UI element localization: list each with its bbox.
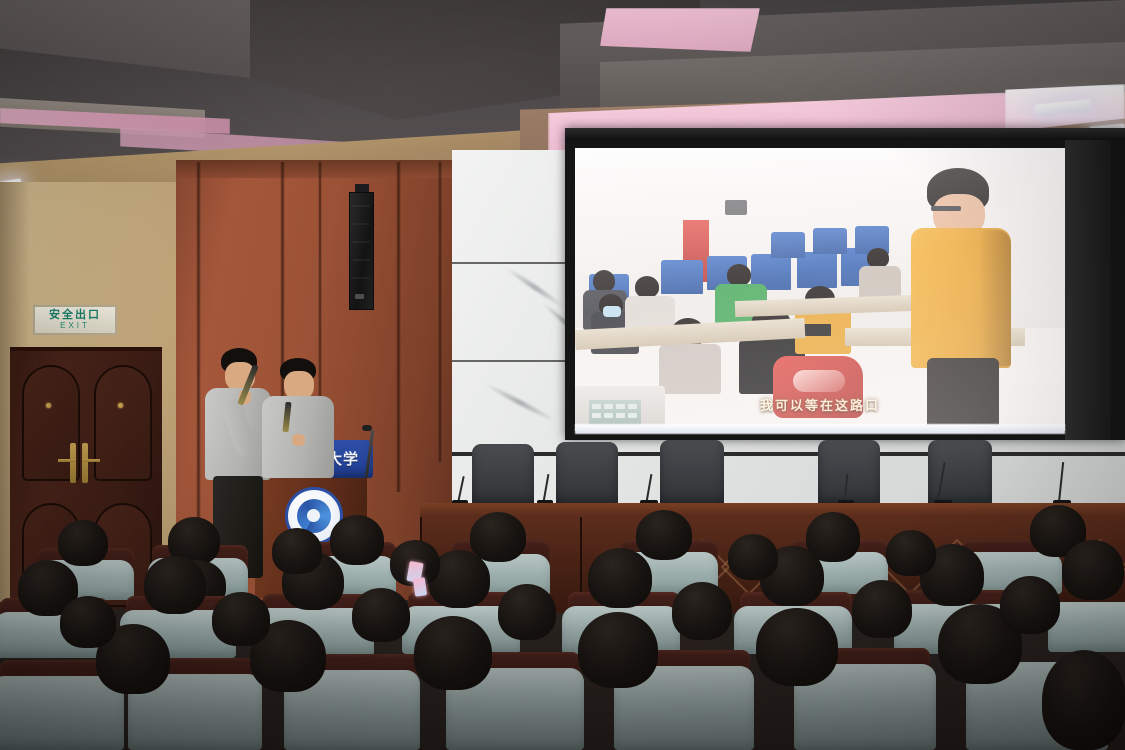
video-presenter-coat-shading [979, 230, 1011, 366]
audience-head [60, 596, 116, 648]
audience-head [636, 510, 692, 560]
audience-head [498, 584, 556, 640]
presenter-right-hand [292, 434, 305, 446]
video-blue-chair [813, 228, 847, 254]
video-speaker-icon [725, 200, 747, 215]
projection-screen-bottom-glow [575, 424, 1065, 434]
video-blue-chair [771, 232, 805, 258]
exit-sign-label-cn: 安全出口 [49, 310, 101, 321]
audience-head [588, 548, 652, 608]
video-audience-head [727, 264, 751, 286]
audience-head [330, 515, 384, 565]
door-stud-left [46, 403, 51, 408]
presenter-right [262, 358, 334, 478]
video-presenter-glasses-icon [931, 206, 961, 211]
audience-head [144, 556, 206, 614]
auditorium-scene: 安全出口 EXIT [0, 0, 1125, 750]
audience-head [470, 512, 526, 562]
projection-screen-content: 我可以等在这路口 [575, 148, 1065, 431]
exit-sign-label-en: EXIT [60, 321, 90, 330]
video-audience-body [659, 344, 721, 394]
door-lever-left[interactable] [58, 459, 76, 462]
judge-chair[interactable] [660, 440, 724, 506]
door-handle-right[interactable] [82, 443, 88, 483]
audience-head [886, 530, 936, 576]
emergency-exit-sign: 安全出口 EXIT [33, 305, 117, 335]
video-subtitle: 我可以等在这路口 [575, 395, 1065, 414]
seat-cushion [0, 676, 124, 750]
door-panel-upper-right [94, 365, 152, 481]
video-shirt-text [803, 324, 831, 336]
video-blue-chair [661, 260, 703, 294]
audience-head [272, 528, 322, 574]
audience-head [352, 588, 410, 642]
door-handle-left[interactable] [70, 443, 76, 483]
audience-head [852, 580, 912, 638]
video-audience-head [635, 276, 659, 298]
wood-wall-top-trim [176, 160, 458, 178]
audience-head [1000, 576, 1060, 634]
speaker-logo [355, 294, 364, 299]
door-stud-right [118, 403, 123, 408]
audience-head [1062, 540, 1124, 600]
audience-head [728, 534, 778, 580]
audience-head [672, 582, 732, 640]
audience-head [58, 520, 108, 566]
video-audience-head [867, 248, 889, 268]
audience-head [578, 612, 658, 688]
video-audience-head [593, 270, 615, 292]
projection-screen-right-border [1065, 140, 1111, 440]
cove-light-notch [600, 8, 760, 52]
projection-screen-top-bar [565, 128, 1125, 140]
wood-wall-seam [438, 162, 442, 462]
phone-screen [413, 577, 427, 596]
audience-head [414, 616, 492, 690]
judge-chair[interactable] [818, 440, 880, 506]
judge-chair[interactable] [472, 444, 534, 506]
wood-wall-seam [396, 162, 401, 492]
stage-rail [452, 452, 1125, 456]
video-standing-presenter [905, 168, 1015, 431]
audience-head [212, 592, 270, 646]
audience-head [1042, 650, 1125, 750]
wood-wall-seam [196, 162, 201, 552]
video-face-mask [603, 306, 621, 317]
audience-head [756, 608, 838, 686]
door-lever-right[interactable] [82, 459, 100, 462]
video-red-bag-highlight [793, 370, 845, 392]
judge-chair[interactable] [556, 442, 618, 506]
wall-speaker-icon [349, 192, 374, 310]
